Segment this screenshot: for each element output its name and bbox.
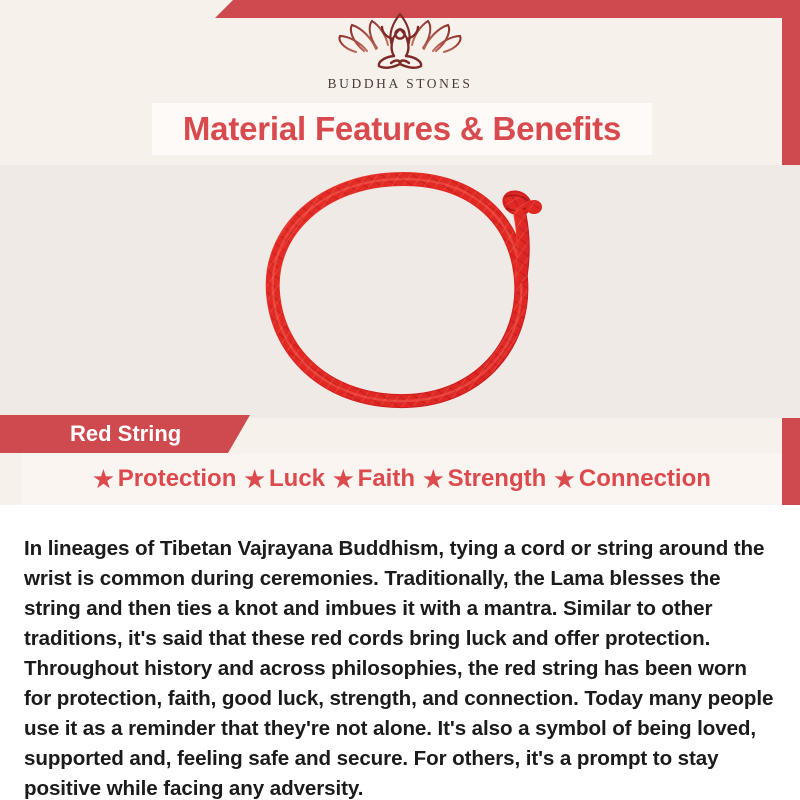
feature-strength: ★ Strength <box>423 465 546 493</box>
star-icon: ★ <box>554 468 575 491</box>
feature-luck: ★ Luck <box>244 465 325 493</box>
page-title: Material Features & Benefits <box>183 110 621 148</box>
star-icon: ★ <box>333 468 354 491</box>
feature-faith: ★ Faith <box>333 465 415 493</box>
brand-header: BUDDHA STONES <box>0 0 800 102</box>
red-string-bracelet-icon <box>228 165 578 418</box>
star-icon: ★ <box>93 468 114 491</box>
feature-label: Connection <box>579 465 711 493</box>
description-section: In lineages of Tibetan Vajrayana Buddhis… <box>0 505 800 800</box>
star-icon: ★ <box>423 468 444 491</box>
star-icon: ★ <box>244 468 265 491</box>
title-banner: Material Features & Benefits <box>152 103 652 155</box>
feature-label: Protection <box>118 465 237 493</box>
product-photo-area <box>0 165 800 418</box>
product-label-banner: Red String <box>0 415 250 453</box>
lotus-meditation-icon <box>334 8 466 74</box>
feature-label: Strength <box>448 465 547 493</box>
features-row: ★ Protection ★ Luck ★ Faith ★ Strength ★… <box>22 453 782 505</box>
feature-label: Luck <box>269 465 325 493</box>
product-label: Red String <box>70 421 181 447</box>
description-text: In lineages of Tibetan Vajrayana Buddhis… <box>24 534 776 800</box>
brand-name: BUDDHA STONES <box>285 76 515 92</box>
infographic-page: BUDDHA STONES Material Features & Benefi… <box>0 0 800 800</box>
feature-protection: ★ Protection <box>93 465 236 493</box>
feature-connection: ★ Connection <box>554 465 711 493</box>
brand-logo: BUDDHA STONES <box>285 8 515 92</box>
feature-label: Faith <box>358 465 415 493</box>
product-photo <box>0 165 800 418</box>
